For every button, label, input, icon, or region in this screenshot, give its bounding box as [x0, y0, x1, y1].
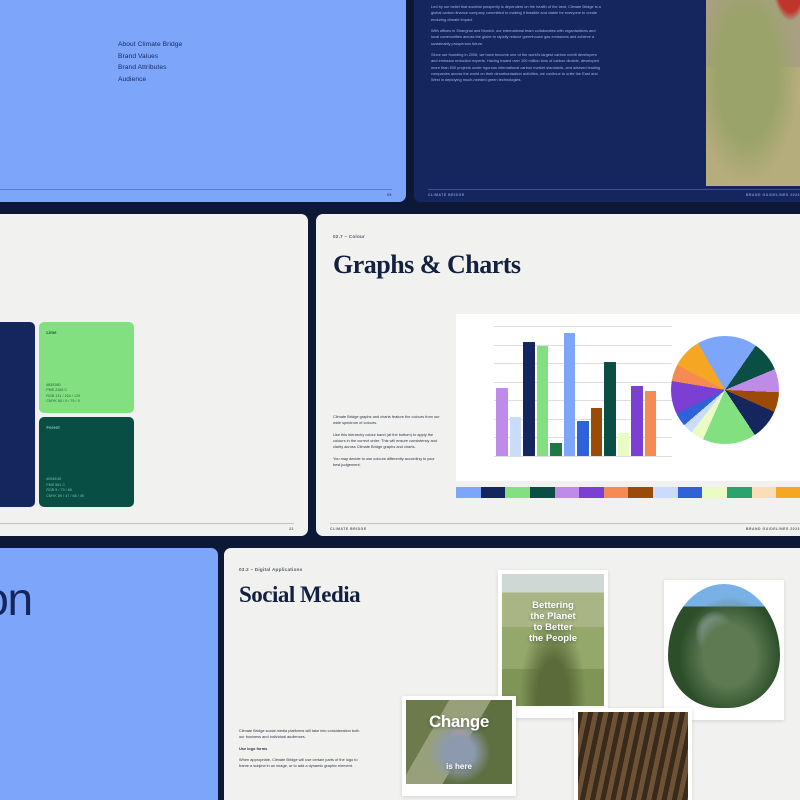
slide-footer: BRAND GUIDELINES 2023 22 — [0, 527, 308, 536]
bar — [604, 362, 616, 456]
bar-chart-series — [494, 326, 672, 456]
social-card-caption: Betteringthe Planetto Betterthe People — [502, 600, 604, 644]
social-card-image: Betteringthe Planetto Betterthe People — [502, 574, 604, 706]
application-list: Print Applications Stationery Brand Coll… — [0, 696, 12, 789]
footer-rule — [428, 189, 800, 190]
social-card-caption-secondary: is here — [406, 762, 512, 771]
footer-rule — [330, 523, 800, 524]
social-subhead: Use logo forms — [239, 746, 267, 751]
social-card-farmer-portrait[interactable] — [664, 580, 784, 720]
toc-item[interactable]: Brand Values — [118, 51, 182, 63]
slide-about-climate-bridge[interactable]: Led by our belief that societal prosperi… — [414, 0, 800, 202]
swatch-name: Forest — [46, 425, 127, 430]
swatch-cmyk: CMYK 89 / 47 / 68 / 45 — [46, 494, 84, 499]
swatch-grid: Navy #122556 PMS 295 C RGB 18 / 37 / 86 … — [0, 322, 134, 507]
charts-paragraph: You may decide to use colours differentl… — [333, 456, 441, 469]
social-card-change-is-here[interactable]: Change is here — [402, 696, 516, 796]
footer-rule — [0, 523, 294, 524]
social-paragraph: Climate Bridge social media platforms wi… — [239, 728, 361, 741]
band-swatch — [776, 487, 800, 498]
section-eyebrow: 03.2 – Digital Applications — [239, 567, 303, 572]
circle-logo-frame — [668, 584, 780, 708]
toc-item[interactable]: About Climate Bridge — [118, 39, 182, 51]
application-list-item[interactable]: Social Media — [0, 764, 12, 772]
swatch-values: #83E081 PMS 2269 C RGB 131 / 224 / 129 C… — [46, 383, 80, 405]
slide-footer: CLIMATE BRIDGE BRAND GUIDELINES 2023 — [316, 527, 800, 536]
band-swatch — [727, 487, 752, 498]
swatch-forest[interactable]: Forest #094E45 PMS 561 C RGB 9 / 73 / 65… — [39, 417, 134, 508]
hiker-photo-image — [706, 0, 800, 186]
charts-paragraph: Climate Bridge graphs and charts feature… — [333, 414, 441, 427]
presentation-overview-canvas: About Climate Bridge Brand Values Brand … — [0, 0, 800, 800]
bar — [577, 421, 589, 456]
about-photo — [706, 0, 800, 186]
charts-paragraph: Use this hierarchy colour band (at the b… — [333, 432, 441, 451]
footer-rule — [0, 189, 392, 190]
grid-line — [494, 456, 672, 457]
bar — [537, 346, 549, 457]
hierarchy-colour-band — [456, 487, 800, 498]
section-eyebrow: 02.7 – Colour — [333, 234, 365, 239]
band-swatch — [530, 487, 555, 498]
footer-doc-label: BRAND GUIDELINES 2023 — [746, 193, 800, 197]
band-swatch — [653, 487, 678, 498]
about-body-copy: Led by our belief that societal prosperi… — [431, 4, 603, 84]
social-body-copy: Climate Bridge social media platforms wi… — [239, 728, 361, 770]
band-swatch — [505, 487, 530, 498]
social-card-plowed-field[interactable] — [574, 708, 692, 800]
social-subcopy: When appropriate, Climate Bridge will us… — [239, 757, 361, 770]
band-swatch — [604, 487, 629, 498]
bar — [618, 433, 630, 456]
page-title: Social Media — [239, 582, 360, 608]
page-title: Application — [0, 572, 32, 626]
bar — [631, 386, 643, 456]
application-list-item[interactable]: Signage — [0, 721, 12, 729]
band-swatch — [481, 487, 506, 498]
bar — [510, 417, 522, 456]
swatch-name: Navy — [0, 330, 28, 335]
charts-body-copy: Climate Bridge graphs and charts feature… — [333, 414, 441, 468]
slide-graphs-and-charts[interactable]: 02.7 – Colour Graphs & Charts Climate Br… — [316, 214, 800, 536]
slide-colour-palette[interactable]: Navy #122556 PMS 295 C RGB 18 / 37 / 86 … — [0, 214, 308, 536]
about-paragraph: With offices in Shanghai and Munich, our… — [431, 28, 603, 47]
footer-brand-label: CLIMATE BRIDGE — [330, 527, 367, 531]
bar — [564, 333, 576, 457]
band-swatch — [456, 487, 481, 498]
swatch-cmyk: CMYK 65 / 0 / 79 / 0 — [46, 399, 80, 404]
band-swatch — [579, 487, 604, 498]
toc-item[interactable]: Audience — [118, 74, 182, 86]
toc-item[interactable]: Brand Attributes — [118, 62, 182, 74]
chart-panel — [456, 314, 800, 481]
about-paragraph: Since our founding in 2006, we have beco… — [431, 52, 603, 84]
application-group-heading: Digital Applications — [0, 748, 12, 756]
band-swatch — [702, 487, 727, 498]
slide-table-of-contents[interactable]: About Climate Bridge Brand Values Brand … — [0, 0, 406, 202]
page-number: 22 — [289, 527, 294, 531]
band-swatch — [628, 487, 653, 498]
slide-footer: BRAND GUIDELINES 2023 05 — [0, 193, 406, 202]
bar — [591, 408, 603, 456]
slide-application-divider[interactable]: Application Print Applications Stationer… — [0, 548, 218, 800]
application-list-item[interactable]: Website — [0, 756, 12, 764]
social-card-image — [578, 712, 688, 800]
pie-chart — [671, 336, 779, 444]
swatch-navy[interactable]: Navy #122556 PMS 295 C RGB 18 / 37 / 86 … — [0, 322, 35, 507]
swatch-values: #094E45 PMS 561 C RGB 9 / 73 / 65 CMYK 8… — [46, 477, 84, 499]
social-card-image: Change is here — [406, 700, 512, 784]
bar-chart — [494, 326, 672, 456]
slide-social-media[interactable]: 03.2 – Digital Applications Social Media… — [224, 548, 800, 800]
about-paragraph: Led by our belief that societal prosperi… — [431, 4, 603, 23]
application-list-item[interactable]: Stationery — [0, 704, 12, 712]
bar — [523, 342, 535, 456]
band-swatch — [752, 487, 777, 498]
social-card-caption-primary: Change — [406, 712, 512, 732]
social-card-image — [668, 584, 780, 708]
page-number: 05 — [387, 193, 392, 197]
application-list-item[interactable]: Presentations — [0, 773, 12, 781]
footer-brand-label: CLIMATE BRIDGE — [428, 193, 465, 197]
application-list-item[interactable]: Merchandise — [0, 729, 12, 737]
swatch-lime[interactable]: Lime #83E081 PMS 2269 C RGB 131 / 224 / … — [39, 322, 134, 413]
band-swatch — [678, 487, 703, 498]
footer-doc-label: BRAND GUIDELINES 2023 — [746, 527, 800, 531]
swatch-name: Lime — [46, 330, 127, 335]
slide-footer: CLIMATE BRIDGE BRAND GUIDELINES 2023 — [414, 193, 800, 202]
page-title: Graphs & Charts — [333, 250, 521, 280]
application-list-item[interactable]: Brand Collateral — [0, 712, 12, 720]
bar — [550, 443, 562, 456]
toc-list: About Climate Bridge Brand Values Brand … — [118, 39, 182, 86]
application-list-item[interactable]: Out of Home (OOHs) — [0, 781, 12, 789]
bar — [496, 388, 508, 456]
band-swatch — [555, 487, 580, 498]
application-group-heading: Print Applications — [0, 696, 12, 704]
bar — [645, 391, 657, 456]
